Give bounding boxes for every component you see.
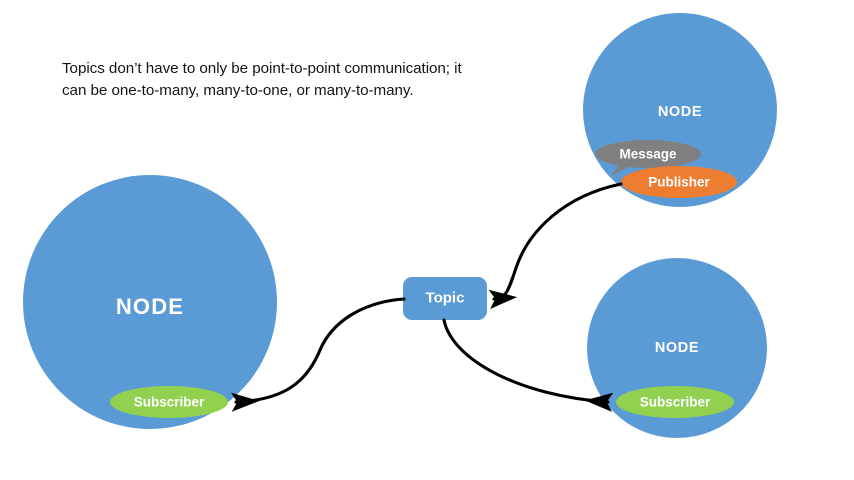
node-label-bottom-right: NODE [655,340,699,356]
arrow-publisher-to-topic [494,184,621,299]
node-label-left: NODE [116,294,184,320]
publisher-label: Publisher [648,175,710,190]
subscriber-label-bottom-right: Subscriber [640,395,711,410]
diagram-canvas: Topics don’t have to only be point-to-po… [0,0,854,480]
subscriber-label-left: Subscriber [134,395,205,410]
caption-text: Topics don’t have to only be point-to-po… [62,58,482,101]
topic-label: Topic [426,290,465,307]
node-label-top-right: NODE [658,104,702,120]
message-label: Message [619,147,676,162]
arrow-topic-to-subscriber-bottom-right [444,320,608,402]
